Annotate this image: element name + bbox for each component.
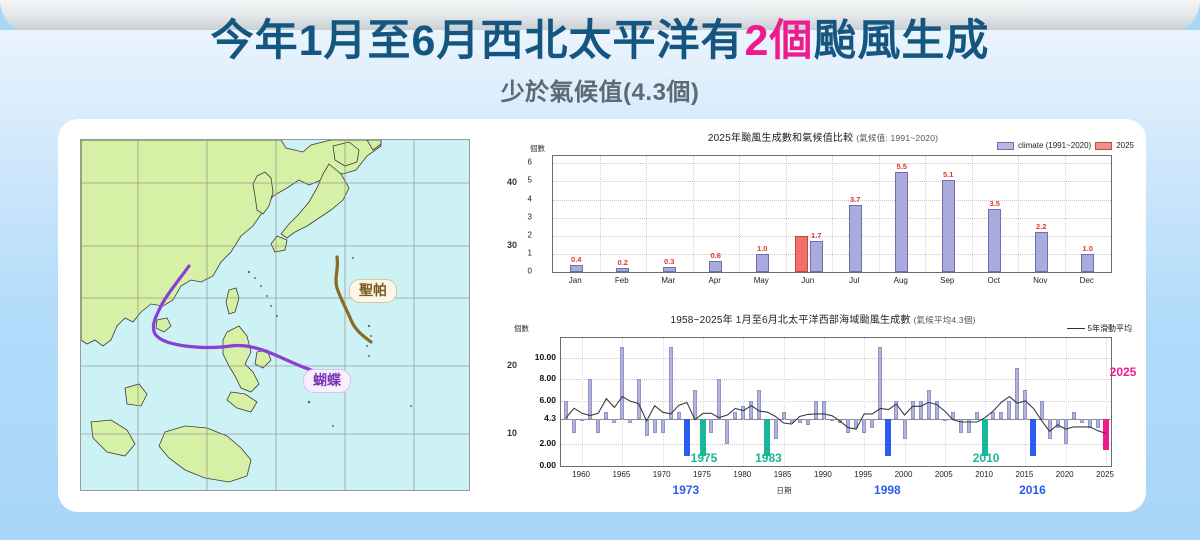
monthly-vgridline	[832, 156, 833, 272]
annual-bar-2007[interactable]	[959, 419, 963, 433]
annual-xtick-1995: 1995	[854, 470, 872, 479]
monthly-xtick-Jul: Jul	[849, 276, 859, 285]
annual-bar-1968[interactable]	[645, 419, 649, 435]
annual-bar-1964[interactable]	[612, 419, 616, 422]
annual-xtick-2025: 2025	[1096, 470, 1114, 479]
annual-bar-1977[interactable]	[717, 379, 721, 419]
annual-highlight-label-1983[interactable]: 1983	[755, 451, 782, 465]
annual-bar-1971[interactable]	[669, 347, 673, 420]
typhoon-track-map-panel: 聖帕 蝴蝶 40 30 20 10	[80, 139, 495, 491]
annual-bar-1997[interactable]	[878, 347, 882, 420]
annual-bar-1984[interactable]	[774, 419, 778, 439]
monthly-xtick-Aug: Aug	[894, 276, 908, 285]
monthly-bar-value-Apr: 0.6	[711, 251, 721, 260]
monthly-chart-plot-area: 0.40.20.30.61.01.73.75.55.13.52.21.0	[552, 155, 1112, 273]
monthly-xtick-May: May	[754, 276, 769, 285]
annual-chart-title-sub: (氣候平均4.3個)	[914, 315, 976, 325]
annual-bar-1961[interactable]	[588, 379, 592, 419]
annual-xtick-1980: 1980	[733, 470, 751, 479]
annual-bar-1963[interactable]	[604, 412, 608, 420]
annual-bar-2021[interactable]	[1072, 412, 1076, 420]
monthly-bar-climate-Apr[interactable]	[709, 261, 722, 272]
annual-gridline	[561, 379, 1111, 380]
annual-bar-2015[interactable]	[1023, 390, 1027, 419]
annual-vgridline	[905, 338, 906, 466]
annual-ytick-6.00: 6.00	[510, 395, 556, 405]
monthly-bar-2025-Jun[interactable]	[795, 236, 808, 272]
annual-xtick-1985: 1985	[774, 470, 792, 479]
monthly-vgridline	[1065, 156, 1066, 272]
monthly-bar-climate-Oct[interactable]	[988, 209, 1001, 272]
monthly-vgridline	[600, 156, 601, 272]
annual-bar-2024[interactable]	[1096, 419, 1100, 428]
annual-bar-1996[interactable]	[870, 419, 874, 428]
legend-label-moving-average: 5年滑動平均	[1088, 323, 1132, 334]
annual-highlight-bar-1973[interactable]	[684, 419, 690, 456]
page-title-highlight: 2個	[744, 17, 813, 65]
annual-bar-1962[interactable]	[596, 419, 600, 433]
annual-bar-1976[interactable]	[709, 419, 713, 433]
monthly-chart-title-sub: (氣候值: 1991~2020)	[856, 133, 938, 143]
monthly-bar-value-Feb: 0.2	[618, 258, 628, 267]
monthly-vgridline	[925, 156, 926, 272]
annual-vgridline	[864, 338, 865, 466]
annual-bar-1988[interactable]	[806, 419, 810, 424]
annual-bar-2018[interactable]	[1048, 419, 1052, 439]
annual-vgridline	[663, 338, 664, 466]
annual-bar-1990[interactable]	[822, 401, 826, 419]
annual-bar-2003[interactable]	[927, 390, 931, 419]
monthly-bar-climate-Mar[interactable]	[663, 267, 676, 272]
annual-bar-2022[interactable]	[1080, 419, 1084, 422]
monthly-xtick-Nov: Nov	[1033, 276, 1047, 285]
legend-swatch-climate	[997, 142, 1014, 150]
annual-bar-1994[interactable]	[854, 419, 858, 428]
annual-vgridline	[1066, 338, 1067, 466]
annual-bar-1999[interactable]	[894, 401, 898, 419]
monthly-bar-climate-Jun[interactable]	[810, 241, 823, 272]
monthly-vgridline	[693, 156, 694, 272]
annual-bar-2020[interactable]	[1064, 419, 1068, 444]
charts-column: 2025年颱風生成數和氣候值比較 (氣候值: 1991~2020) 個數 cli…	[508, 125, 1138, 507]
annual-ytick-4.3: 4.3	[510, 413, 556, 423]
annual-bar-1972[interactable]	[677, 412, 681, 420]
monthly-bar-value-Jul: 3.7	[850, 195, 860, 204]
monthly-ytick-5: 5	[492, 176, 532, 185]
page-subtitle: 少於氣候值(4.3個)	[0, 72, 1200, 107]
monthly-bar-value-Jan: 0.4	[571, 255, 581, 264]
annual-bar-1978[interactable]	[725, 419, 729, 444]
annual-bar-1991[interactable]	[830, 419, 834, 421]
legend-label-2025: 2025	[1116, 141, 1134, 150]
monthly-bar-climate-Nov[interactable]	[1035, 232, 1048, 272]
annual-xtick-1975: 1975	[693, 470, 711, 479]
annual-bar-2011[interactable]	[991, 412, 995, 420]
annual-ytick-8.00: 8.00	[510, 373, 556, 383]
annual-bar-2023[interactable]	[1088, 419, 1092, 428]
annual-chart-title: 1958~2025年 1月至6月北太平洋西部海域颱風生成數 (氣候平均4.3個)	[508, 307, 1138, 326]
monthly-bar-value-May: 1.0	[757, 244, 767, 253]
monthly-bar-value-Nov: 2.2	[1036, 222, 1046, 231]
monthly-bar-climate-May[interactable]	[756, 254, 769, 272]
annual-bar-2009[interactable]	[975, 412, 979, 420]
annual-bar-1981[interactable]	[749, 401, 753, 419]
annual-xtick-1960: 1960	[572, 470, 590, 479]
storm-label-sepat[interactable]: 聖帕	[349, 279, 397, 303]
monthly-ytick-4: 4	[492, 194, 532, 203]
annual-gridline	[561, 358, 1111, 359]
annual-highlight-bar-1998[interactable]	[885, 419, 891, 456]
annual-chart-yaxis-unit: 個數	[514, 323, 529, 334]
monthly-xtick-Feb: Feb	[615, 276, 629, 285]
monthly-vgridline	[972, 156, 973, 272]
monthly-vgridline	[1018, 156, 1019, 272]
monthly-bar-value-Aug: 5.5	[897, 162, 907, 171]
monthly-bar-climate-Feb[interactable]	[616, 268, 629, 272]
annual-bar-1965[interactable]	[620, 347, 624, 420]
annual-xtick-2005: 2005	[935, 470, 953, 479]
annual-chart-plot-area	[560, 337, 1112, 467]
annual-bar-1979[interactable]	[733, 412, 737, 420]
monthly-xtick-Jan: Jan	[569, 276, 582, 285]
annual-chart-title-text: 1958~2025年 1月至6月北太平洋西部海域颱風生成數	[670, 315, 910, 326]
monthly-xtick-Apr: Apr	[709, 276, 721, 285]
monthly-bar-climate-Dec[interactable]	[1081, 254, 1094, 272]
annual-bar-2014[interactable]	[1015, 368, 1019, 419]
annual-highlight-label-2016[interactable]: 2016	[1019, 483, 1046, 497]
annual-vgridline	[784, 338, 785, 466]
annual-bar-2002[interactable]	[919, 401, 923, 419]
annual-bar-1987[interactable]	[798, 419, 802, 422]
typhoon-track-map[interactable]: 聖帕 蝴蝶	[80, 139, 470, 491]
monthly-bar-value-Dec: 1.0	[1083, 244, 1093, 253]
annual-bar-2019[interactable]	[1056, 419, 1060, 428]
annual-xtick-2020: 2020	[1056, 470, 1074, 479]
monthly-xtick-Oct: Oct	[988, 276, 1000, 285]
annual-vgridline	[945, 338, 946, 466]
annual-gridline	[561, 444, 1111, 445]
annual-series-chart: 1958~2025年 1月至6月北太平洋西部海域颱風生成數 (氣候平均4.3個)…	[508, 307, 1138, 507]
monthly-vgridline	[646, 156, 647, 272]
map-graphic	[81, 140, 470, 491]
annual-bar-1960[interactable]	[580, 419, 584, 421]
monthly-vgridline	[739, 156, 740, 272]
monthly-ytick-0: 0	[492, 267, 532, 276]
annual-bar-1986[interactable]	[790, 419, 794, 422]
annual-baseline	[561, 419, 1111, 420]
annual-bar-2000[interactable]	[903, 419, 907, 439]
page-title-part-1: 今年1月至6月西北太平洋有	[211, 17, 745, 65]
annual-bar-2008[interactable]	[967, 419, 971, 433]
page-title: 今年1月至6月西北太平洋有2個颱風生成	[0, 16, 1200, 67]
monthly-chart-legend: climate (1991~2020) 2025	[997, 141, 1134, 150]
annual-highlight-label-2025[interactable]: 2025	[1110, 365, 1137, 379]
legend-line-moving-average	[1067, 328, 1085, 329]
annual-bar-1980[interactable]	[741, 406, 745, 419]
storm-label-butterfly[interactable]: 蝴蝶	[303, 369, 351, 393]
annual-highlight-label-1998[interactable]: 1998	[874, 483, 901, 497]
annual-bar-2006[interactable]	[951, 412, 955, 420]
monthly-ytick-3: 3	[492, 212, 532, 221]
annual-ytick-0.00: 0.00	[510, 460, 556, 470]
monthly-ytick-2: 2	[492, 230, 532, 239]
monthly-comparison-chart: 2025年颱風生成數和氣候值比較 (氣候值: 1991~2020) 個數 cli…	[508, 125, 1138, 305]
annual-chart-legend: 5年滑動平均	[1067, 323, 1132, 334]
content-card: 聖帕 蝴蝶 40 30 20 10 2025年颱風生成數和氣候值比較 (氣候值:…	[58, 119, 1146, 512]
annual-bar-2001[interactable]	[911, 401, 915, 419]
annual-bar-1985[interactable]	[782, 412, 786, 420]
annual-highlight-label-1973[interactable]: 1973	[673, 483, 700, 497]
annual-vgridline	[582, 338, 583, 466]
annual-bar-2004[interactable]	[935, 401, 939, 419]
annual-xtick-2000: 2000	[895, 470, 913, 479]
monthly-xtick-Jun: Jun	[801, 276, 814, 285]
annual-bar-1966[interactable]	[628, 419, 632, 422]
monthly-bar-climate-Aug[interactable]	[895, 172, 908, 272]
annual-bar-1993[interactable]	[846, 419, 850, 433]
annual-bar-1992[interactable]	[838, 419, 842, 422]
annual-xtick-1990: 1990	[814, 470, 832, 479]
monthly-xtick-Dec: Dec	[1080, 276, 1094, 285]
monthly-bar-value-Oct: 3.5	[990, 199, 1000, 208]
annual-bar-1982[interactable]	[757, 390, 761, 419]
annual-gridline	[561, 401, 1111, 402]
monthly-xtick-Sep: Sep	[940, 276, 954, 285]
annual-bar-1989[interactable]	[814, 401, 818, 419]
annual-bar-1995[interactable]	[862, 419, 866, 433]
monthly-ytick-1: 1	[492, 248, 532, 257]
monthly-ytick-6: 6	[492, 158, 532, 167]
monthly-bar-value-Jun: 1.7	[811, 231, 821, 240]
annual-bar-1974[interactable]	[693, 390, 697, 419]
annual-bar-1959[interactable]	[572, 419, 576, 433]
monthly-bar-value-Mar: 0.3	[664, 257, 674, 266]
monthly-bar-climate-Jul[interactable]	[849, 205, 862, 272]
annual-bar-1958[interactable]	[564, 401, 568, 419]
annual-bar-1969[interactable]	[653, 419, 657, 433]
monthly-bar-climate-Sep[interactable]	[942, 180, 955, 272]
legend-label-climate: climate (1991~2020)	[1018, 141, 1091, 150]
annual-bar-2005[interactable]	[943, 419, 947, 421]
monthly-vgridline	[879, 156, 880, 272]
annual-highlight-label-2010[interactable]: 2010	[973, 451, 1000, 465]
page-header: 今年1月至6月西北太平洋有2個颱風生成 少於氣候值(4.3個)	[0, 16, 1200, 107]
annual-bar-2017[interactable]	[1040, 401, 1044, 419]
annual-chart-xaxis-title: 日期	[777, 485, 792, 496]
monthly-chart-yaxis-unit: 個數	[530, 143, 545, 154]
annual-highlight-label-1975[interactable]: 1975	[691, 451, 718, 465]
annual-ytick-2.00: 2.00	[510, 438, 556, 448]
annual-bar-2012[interactable]	[999, 412, 1003, 420]
page-title-part-2: 颱風生成	[813, 17, 989, 65]
annual-highlight-bar-2025[interactable]	[1103, 419, 1109, 450]
annual-xtick-2010: 2010	[975, 470, 993, 479]
legend-swatch-2025	[1095, 142, 1112, 150]
monthly-chart-title-text: 2025年颱風生成數和氣候值比較	[708, 133, 853, 144]
annual-xtick-2015: 2015	[1015, 470, 1033, 479]
annual-ytick-10.00: 10.00	[510, 352, 556, 362]
annual-xtick-1965: 1965	[613, 470, 631, 479]
monthly-bar-climate-Jan[interactable]	[570, 265, 583, 272]
annual-highlight-bar-2016[interactable]	[1030, 419, 1036, 456]
annual-bar-1970[interactable]	[661, 419, 665, 433]
annual-vgridline	[743, 338, 744, 466]
annual-bar-2013[interactable]	[1007, 401, 1011, 419]
annual-xtick-1970: 1970	[653, 470, 671, 479]
annual-bar-1967[interactable]	[637, 379, 641, 419]
monthly-vgridline	[786, 156, 787, 272]
monthly-xtick-Mar: Mar	[661, 276, 675, 285]
monthly-bar-value-Sep: 5.1	[943, 170, 953, 179]
